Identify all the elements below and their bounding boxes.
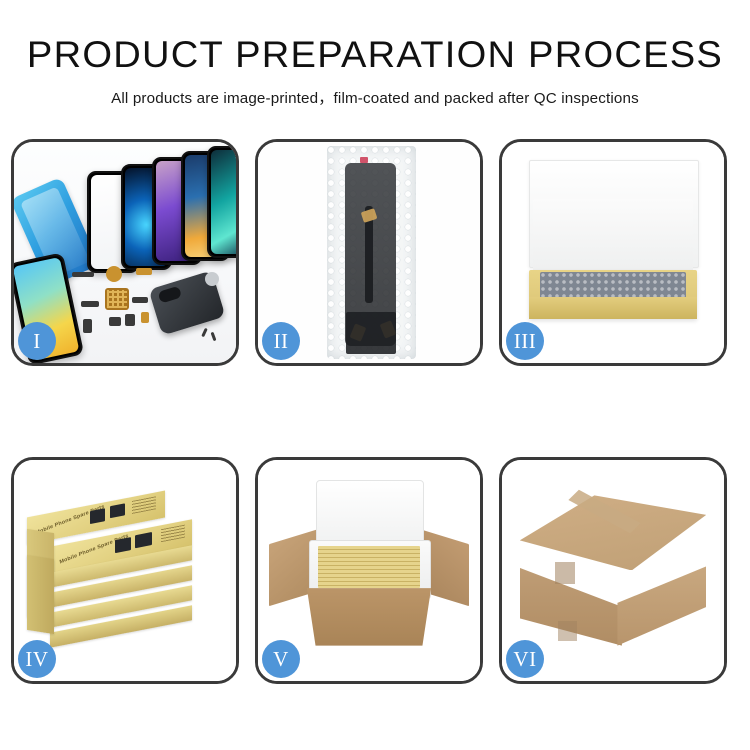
step-panel-6[interactable]: VI — [499, 457, 727, 684]
step-badge-1: I — [18, 322, 56, 360]
bubble-wrap-bag — [327, 146, 416, 358]
white-foam-sheet — [533, 199, 693, 274]
step-panel-1[interactable]: I — [11, 139, 239, 366]
flex-strip-3 — [132, 297, 148, 303]
box-window-2b — [135, 532, 152, 549]
flex-strip-gold — [136, 268, 152, 275]
step-panel-5[interactable]: V — [255, 457, 483, 684]
box-spec-lines-2 — [160, 524, 184, 542]
flex-strip-2 — [81, 301, 99, 307]
step-badge-3: III — [506, 322, 544, 360]
vibrator-motor — [125, 314, 135, 326]
step-panel-2[interactable]: II — [255, 139, 483, 366]
box-spec-lines-1 — [132, 496, 157, 515]
connector-part — [141, 312, 149, 323]
carton-top-face — [520, 495, 706, 570]
speaker-module — [106, 266, 122, 282]
step-panel-3[interactable]: III — [499, 139, 727, 366]
step-panel-4[interactable]: Mobile Phone Spare Parts Mobile Phone Sp… — [11, 457, 239, 684]
step-badge-2: II — [262, 322, 300, 360]
kraft-tray-front-wall — [529, 297, 698, 319]
tool-part — [205, 272, 219, 286]
step-badge-4: IV — [18, 640, 56, 678]
box-side-lower — [27, 555, 54, 634]
carton-body — [307, 588, 431, 645]
screen-bottom-board — [346, 312, 396, 354]
step-badge-6: VI — [506, 640, 544, 678]
box-window-1a — [91, 508, 106, 524]
product-preparation-infographic: PRODUCT PREPARATION PROCESS All products… — [0, 0, 750, 750]
kraft-boxes-inside — [318, 546, 420, 588]
qc-label-sticker — [360, 157, 368, 163]
process-steps-grid: I II — [11, 139, 739, 684]
screw-1 — [201, 327, 208, 336]
ic-chip — [105, 288, 129, 310]
box-window-2a — [115, 537, 131, 553]
box-window-1b — [110, 503, 125, 519]
header: PRODUCT PREPARATION PROCESS All products… — [0, 0, 750, 108]
camera-module — [109, 317, 121, 326]
phone-display-teal — [207, 146, 236, 258]
carton-tape-left-lower — [558, 621, 578, 641]
carton-tape-left-upper — [555, 562, 575, 584]
screw-2 — [210, 332, 216, 341]
page-title: PRODUCT PREPARATION PROCESS — [0, 0, 750, 73]
foam-box-lid — [316, 480, 425, 544]
step-badge-5: V — [262, 640, 300, 678]
sim-tray — [83, 319, 92, 333]
page-subtitle: All products are image-printed，film-coat… — [0, 73, 750, 108]
flex-strip-1 — [72, 272, 94, 277]
